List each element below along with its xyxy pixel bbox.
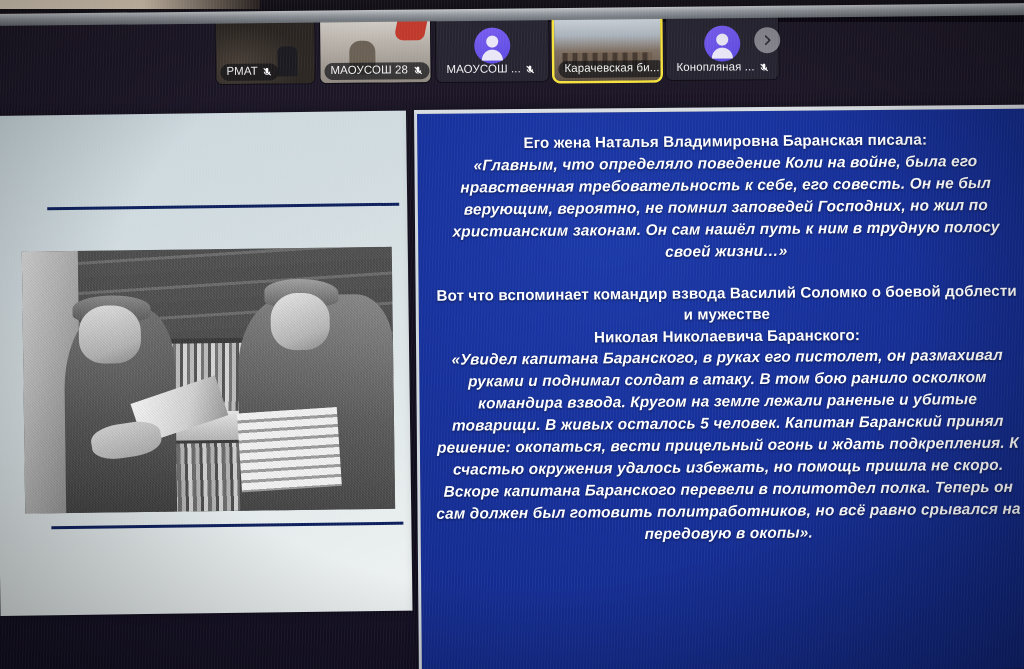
participant-tile-3[interactable]: Карачевская би... (554, 14, 661, 81)
participant-tile-2[interactable]: МАОУСОШ ... (436, 15, 549, 82)
mic-muted-icon (525, 64, 536, 75)
monitor-bezel-corner (0, 0, 260, 9)
slide-rule-bottom (51, 522, 403, 530)
slide-text-body: Его жена Наталья Владимировна Баранская … (431, 129, 1023, 548)
chevron-right-icon (761, 34, 773, 46)
participant-avatar-4 (704, 26, 740, 62)
slide-paragraph-2: Вот что вспоминает командир взвода Васил… (433, 280, 1021, 328)
participant-name-chip-0: РМАТ (220, 63, 278, 81)
participant-name-0: РМАТ (226, 65, 257, 79)
participant-avatar-2 (474, 28, 510, 64)
mic-muted-icon (759, 62, 770, 73)
participant-name-3: Карачевская би... (564, 61, 659, 76)
participant-name-2: МАОУСОШ ... (446, 62, 521, 77)
participant-name-chip-1: МАОУСОШ 28 (324, 62, 429, 80)
slide-paragraph-4: «Увидел капитана Баранского, в руках его… (433, 345, 1023, 548)
participant-filmstrip[interactable]: РМАТ МАОУСОШ 28 (216, 13, 777, 90)
participant-name-chip-4: Конопляная ... (670, 59, 775, 77)
slide-left-panel (0, 111, 413, 616)
participant-name-chip-3: Карачевская би... (558, 60, 660, 78)
filmstrip-next-button[interactable] (754, 27, 780, 53)
participant-name-chip-2: МАОУСОШ ... (440, 61, 542, 79)
mic-muted-icon (262, 66, 273, 77)
meeting-app-screen: РМАТ МАОУСОШ 28 (0, 22, 1024, 669)
slide-paragraph-1: «Главным, что определяло поведение Коли … (431, 150, 1020, 265)
participant-name-1: МАОУСОШ 28 (330, 63, 408, 78)
participant-tile-1[interactable]: МАОУСОШ 28 (320, 16, 431, 83)
historical-photo (22, 247, 395, 514)
mic-muted-icon (412, 65, 423, 76)
participant-name-4: Конопляная ... (676, 60, 754, 75)
participant-tile-0[interactable]: РМАТ (216, 17, 315, 84)
slide-right-panel: Его жена Наталья Владимировна Баранская … (414, 105, 1024, 669)
screenshot-root: РМАТ МАОУСОШ 28 (0, 0, 1024, 669)
slide-rule-top (47, 203, 399, 211)
